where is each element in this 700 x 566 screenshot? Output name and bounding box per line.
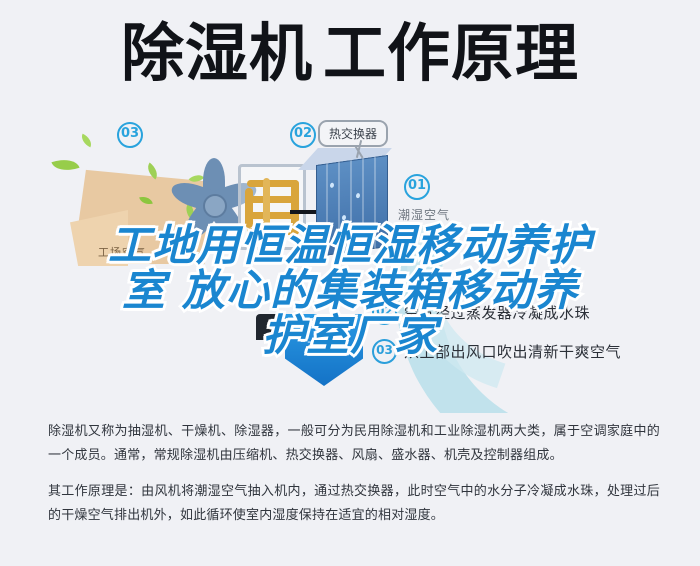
leaf-icon — [79, 134, 95, 148]
legend-item: 02 空气经过蒸发器冷凝成水珠 — [372, 300, 700, 325]
body-copy: 除湿机又称为抽湿机、干燥机、除湿器，一般可分为民用除湿机和工业除湿机两大类，属于… — [48, 420, 660, 540]
title-part-a: 除湿机 — [121, 22, 313, 85]
marker-01: 01 — [404, 174, 430, 200]
paragraph-2: 其工作原理是：由风机将潮湿空气抽入机内，通过热交换器，此时空气中的水分子冷凝成水… — [48, 480, 660, 528]
paragraph-1: 除湿机又称为抽湿机、干燥机、除湿器，一般可分为民用除湿机和工业除湿机两大类，属于… — [48, 420, 660, 468]
humid-air-label: 潮湿空气 — [398, 206, 450, 223]
legend-label: 空气经过蒸发器冷凝成水珠 — [404, 302, 590, 323]
legend-number: 02 — [372, 300, 397, 325]
legend-label: 从上部出风口吹出清新干爽空气 — [404, 341, 621, 362]
water-tank-label: 水箱 — [307, 336, 333, 352]
leaf-icon — [51, 154, 79, 175]
heat-exchanger-callout: 热交换器 — [318, 120, 388, 147]
legend-number: 03 — [372, 339, 397, 364]
heat-exchanger-block — [316, 155, 388, 257]
factory-air-label: 工场空气 — [98, 244, 146, 260]
marker-03: 03 — [117, 122, 143, 148]
page-title: 除湿机工作原理 — [0, 22, 700, 85]
marker-02: 02 — [290, 122, 316, 148]
infographic-page: 除湿机工作原理 工场空气 — [0, 0, 700, 566]
legend-item: 03 从上部出风口吹出清新干爽空气 — [372, 339, 700, 364]
legend-list: 02 空气经过蒸发器冷凝成水珠 03 从上部出风口吹出清新干爽空气 — [372, 300, 700, 378]
title-part-b: 工作原理 — [323, 22, 579, 85]
